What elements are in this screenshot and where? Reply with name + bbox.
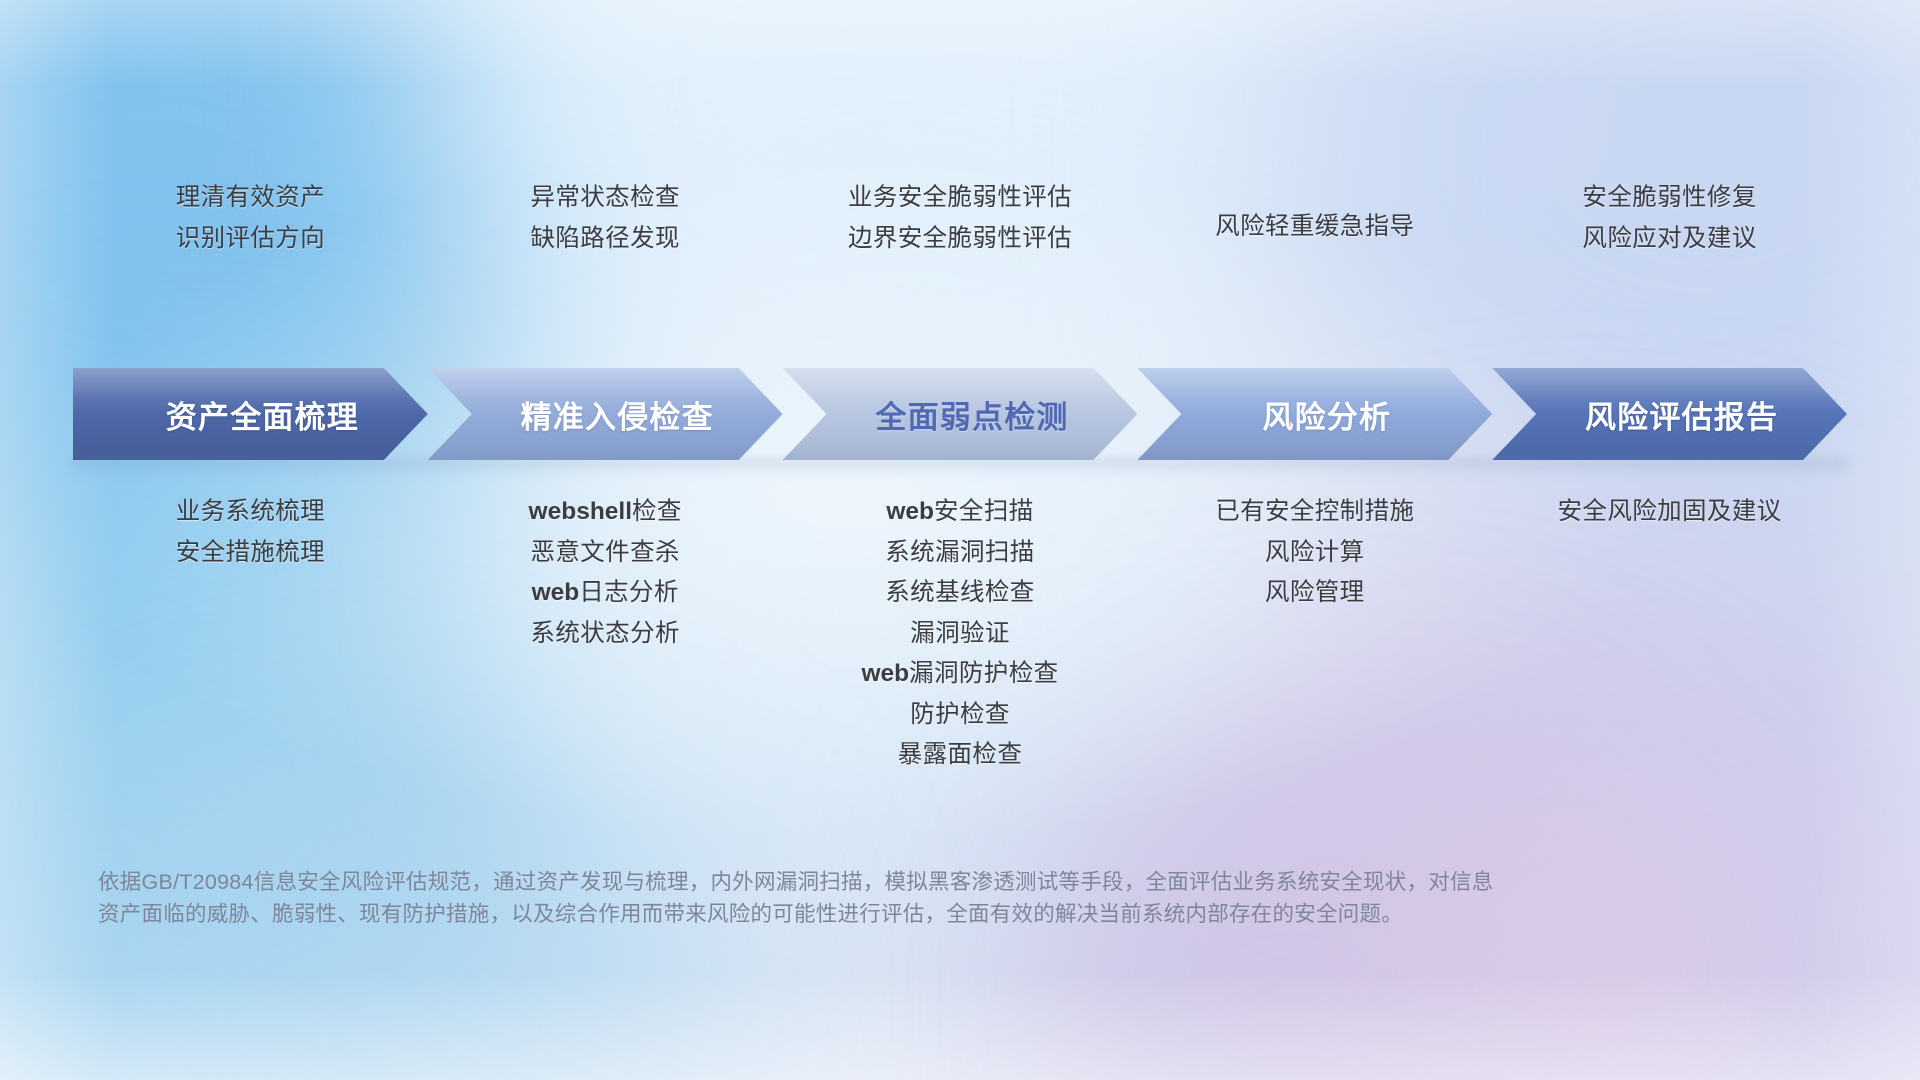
bullet-above: 风险轻重缓急指导 (1215, 215, 1414, 240)
bullet-below: web安全扫描 (886, 500, 1033, 525)
above-bullets-column-3: 业务安全脆弱性评估 边界安全脆弱性评估 (783, 186, 1138, 251)
bullet-below: 风险计算 (1265, 541, 1365, 566)
above-bullets-column-4: 风险轻重缓急指导 (1137, 186, 1492, 251)
bullet-below: 业务系统梳理 (176, 500, 325, 525)
below-bullets-column-3: web安全扫描 系统漏洞扫描 系统基线检查 漏洞验证 web漏洞防护检查 防护检… (783, 500, 1138, 768)
bullet-above: 边界安全脆弱性评估 (848, 227, 1072, 252)
bullet-below: 恶意文件查杀 (530, 541, 679, 566)
chevron-stage-5[interactable]: 风险评估报告 (1492, 368, 1847, 460)
chevron-stage-4-label: 风险分析 (1262, 392, 1391, 437)
below-bullets-column-2: webshell检查 恶意文件查杀 web日志分析 系统状态分析 (428, 500, 783, 646)
chevron-stage-5-label: 风险评估报告 (1585, 392, 1778, 437)
bullet-below: 已有安全控制措施 (1215, 500, 1414, 525)
bullet-below: 安全风险加固及建议 (1558, 500, 1782, 525)
above-bullets-row: 理清有效资产 识别评估方向 异常状态检查 缺陷路径发现 业务安全脆弱性评估 边界… (73, 186, 1847, 251)
bullet-below: 系统基线检查 (885, 581, 1034, 606)
bullet-below: 安全措施梳理 (176, 541, 325, 566)
footer-line-1: 依据GB/T20984信息安全风险评估规范，通过资产发现与梳理，内外网漏洞扫描，… (98, 866, 1748, 898)
above-bullets-column-2: 异常状态检查 缺陷路径发现 (428, 186, 783, 251)
bullet-below: 暴露面检查 (898, 743, 1023, 768)
above-bullets-column-1: 理清有效资产 识别评估方向 (73, 186, 428, 251)
bullet-below: 漏洞验证 (910, 622, 1010, 647)
bullet-below: web漏洞防护检查 (861, 662, 1058, 687)
chevron-band-shadow (73, 458, 1847, 476)
bullet-above: 识别评估方向 (176, 227, 325, 252)
bullet-above: 安全脆弱性修复 (1582, 186, 1756, 211)
chevron-stage-1[interactable]: 资产全面梳理 (73, 368, 428, 460)
below-bullets-column-1: 业务系统梳理 安全措施梳理 (73, 500, 428, 565)
bullet-above: 理清有效资产 (176, 186, 325, 211)
bullet-below: 系统漏洞扫描 (885, 541, 1034, 566)
bullet-below: 防护检查 (910, 703, 1010, 728)
bullet-above: 业务安全脆弱性评估 (848, 186, 1072, 211)
chevron-stage-1-label: 资产全面梳理 (166, 392, 359, 437)
below-bullets-column-4: 已有安全控制措施 风险计算 风险管理 (1137, 500, 1492, 606)
chevron-stage-2[interactable]: 精准入侵检查 (428, 368, 783, 460)
bullet-above: 异常状态检查 (530, 186, 679, 211)
chevron-band: 资产全面梳理 精准入侵检查 全面弱点检测 风险分析 风险评估报告 (73, 368, 1847, 460)
bullet-above: 缺陷路径发现 (530, 227, 679, 252)
chevron-stage-3[interactable]: 全面弱点检测 (783, 368, 1138, 460)
chevron-stage-3-label: 全面弱点检测 (875, 392, 1068, 437)
bullet-above: 风险应对及建议 (1582, 227, 1756, 252)
chevron-stage-2-label: 精准入侵检查 (521, 392, 714, 437)
below-bullets-column-5: 安全风险加固及建议 (1492, 500, 1847, 525)
above-bullets-column-5: 安全脆弱性修复 风险应对及建议 (1492, 186, 1847, 251)
footer-line-2: 资产面临的威胁、脆弱性、现有防护措施，以及综合作用而带来风险的可能性进行评估，全… (98, 898, 1748, 930)
chevron-stage-4[interactable]: 风险分析 (1137, 368, 1492, 460)
bullet-below: 风险管理 (1265, 581, 1365, 606)
footer-description: 依据GB/T20984信息安全风险评估规范，通过资产发现与梳理，内外网漏洞扫描，… (98, 866, 1748, 931)
bullet-below: web日志分析 (532, 581, 679, 606)
bullet-below: webshell检查 (529, 500, 682, 525)
bullet-below: 系统状态分析 (530, 622, 679, 647)
below-bullets-row: 业务系统梳理 安全措施梳理 webshell检查 恶意文件查杀 web日志分析 … (73, 500, 1847, 768)
